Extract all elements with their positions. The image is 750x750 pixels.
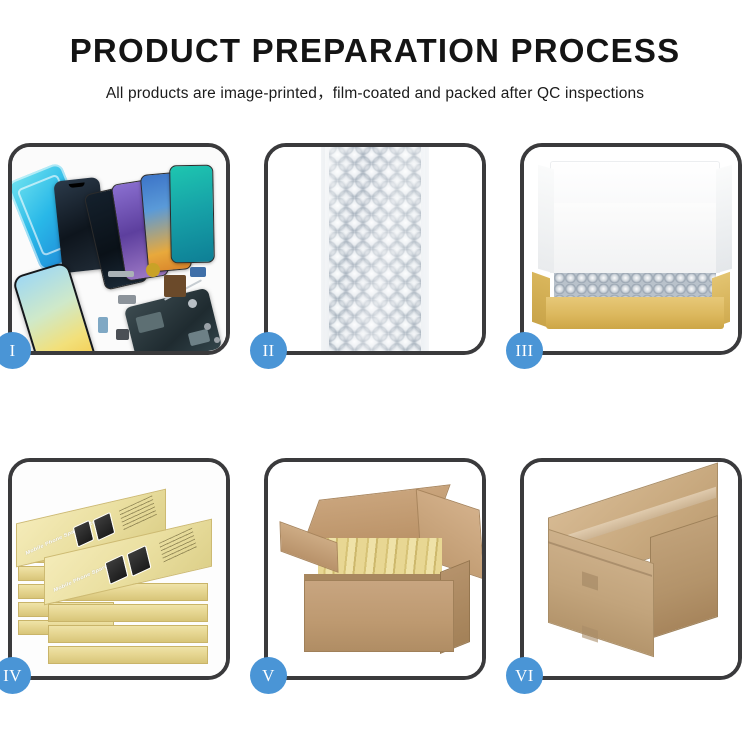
bubble-wrap-scene <box>268 147 482 351</box>
open-mailer-box-scene <box>524 147 738 351</box>
phone-screen-teal <box>169 165 215 264</box>
process-panel-1: I <box>8 143 230 355</box>
spare-part-screw <box>214 337 220 343</box>
spare-part-chip <box>98 317 108 333</box>
phone-parts-scene <box>12 147 226 351</box>
page-title: PRODUCT PREPARATION PROCESS <box>0 34 750 69</box>
step-badge-6: VI <box>506 657 543 694</box>
step-badge-4: IV <box>0 657 31 694</box>
process-panel-3: III <box>520 143 742 355</box>
spare-part-chip <box>116 329 129 340</box>
carton-front-panel <box>304 580 454 652</box>
box-phone-graphic <box>126 545 151 577</box>
step-badge-2: II <box>250 332 287 369</box>
page-header: PRODUCT PREPARATION PROCESS All products… <box>0 0 750 103</box>
open-carton-scene <box>268 462 482 676</box>
foam-insert-graphic <box>554 203 716 273</box>
box-front-panel-graphic <box>546 297 724 329</box>
process-panel-2: II <box>264 143 486 355</box>
spare-part-screw <box>188 299 197 308</box>
spare-part-chip <box>190 267 206 277</box>
phone-screen-fan-graphic <box>94 159 224 279</box>
spare-part-chip <box>108 271 134 277</box>
panel-4-image: Mobile Phone Spare Parts Mobile Phone Sp… <box>12 462 226 676</box>
panel-2-image <box>268 147 482 351</box>
step-badge-3: III <box>506 332 543 369</box>
bubble-wrapped-items-graphic <box>554 273 716 299</box>
logic-board-graphic <box>124 288 222 351</box>
box-phone-graphic <box>105 554 129 585</box>
spare-part-chip <box>164 275 186 297</box>
bubble-wrap-sheen <box>325 147 425 351</box>
process-panel-6: VI <box>520 458 742 680</box>
panel-6-image <box>524 462 738 676</box>
spare-part-screw <box>204 323 211 330</box>
step-badge-1: I <box>0 332 31 369</box>
box-spec-lines <box>159 528 197 564</box>
spare-part-chip <box>118 295 136 304</box>
sealed-carton-scene <box>524 462 738 676</box>
process-panel-grid: I II III <box>8 143 742 680</box>
stacked-box-side <box>48 604 208 622</box>
process-panel-4: Mobile Phone Spare Parts Mobile Phone Sp… <box>8 458 230 680</box>
panel-1-image <box>12 147 226 351</box>
spare-part-chip <box>146 263 160 277</box>
stacked-boxes-scene: Mobile Phone Spare Parts Mobile Phone Sp… <box>12 462 226 676</box>
box-phone-graphic <box>93 512 116 541</box>
step-badge-5: V <box>250 657 287 694</box>
box-spec-lines <box>119 495 157 531</box>
stacked-box-side <box>48 646 208 664</box>
panel-5-image <box>268 462 482 676</box>
process-panel-5: V <box>264 458 486 680</box>
panel-3-image <box>524 147 738 351</box>
carton-right-panel <box>650 515 718 639</box>
stacked-box-side <box>48 625 208 643</box>
page-subtitle: All products are image-printed，film-coat… <box>0 81 750 103</box>
